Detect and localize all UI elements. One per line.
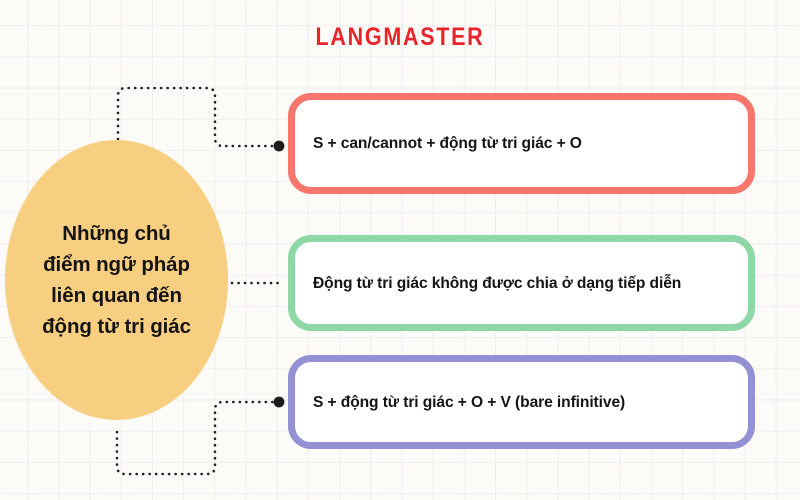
connector-dot-3	[274, 397, 285, 408]
central-topic-oval: Những chủ điểm ngữ pháp liên quan đến độ…	[5, 140, 228, 420]
grammar-point-text-1: S + can/cannot + động từ tri giác + O	[295, 130, 598, 157]
grammar-point-text-3: S + động từ tri giác + O + V (bare infin…	[295, 389, 641, 416]
grammar-point-card-3: S + động từ tri giác + O + V (bare infin…	[288, 355, 755, 449]
grammar-point-card-1: S + can/cannot + động từ tri giác + O	[288, 93, 755, 194]
infographic-canvas: LANGMASTER Những chủ điểm ngữ pháp liên …	[0, 0, 800, 500]
central-topic-label: Những chủ điểm ngữ pháp liên quan đến độ…	[42, 218, 192, 342]
grammar-point-text-2: Động từ tri giác không được chia ở dạng …	[295, 270, 697, 297]
connector-dot-1	[274, 141, 285, 152]
grammar-point-card-2: Động từ tri giác không được chia ở dạng …	[288, 235, 755, 331]
langmaster-logo: LANGMASTER	[56, 24, 744, 50]
